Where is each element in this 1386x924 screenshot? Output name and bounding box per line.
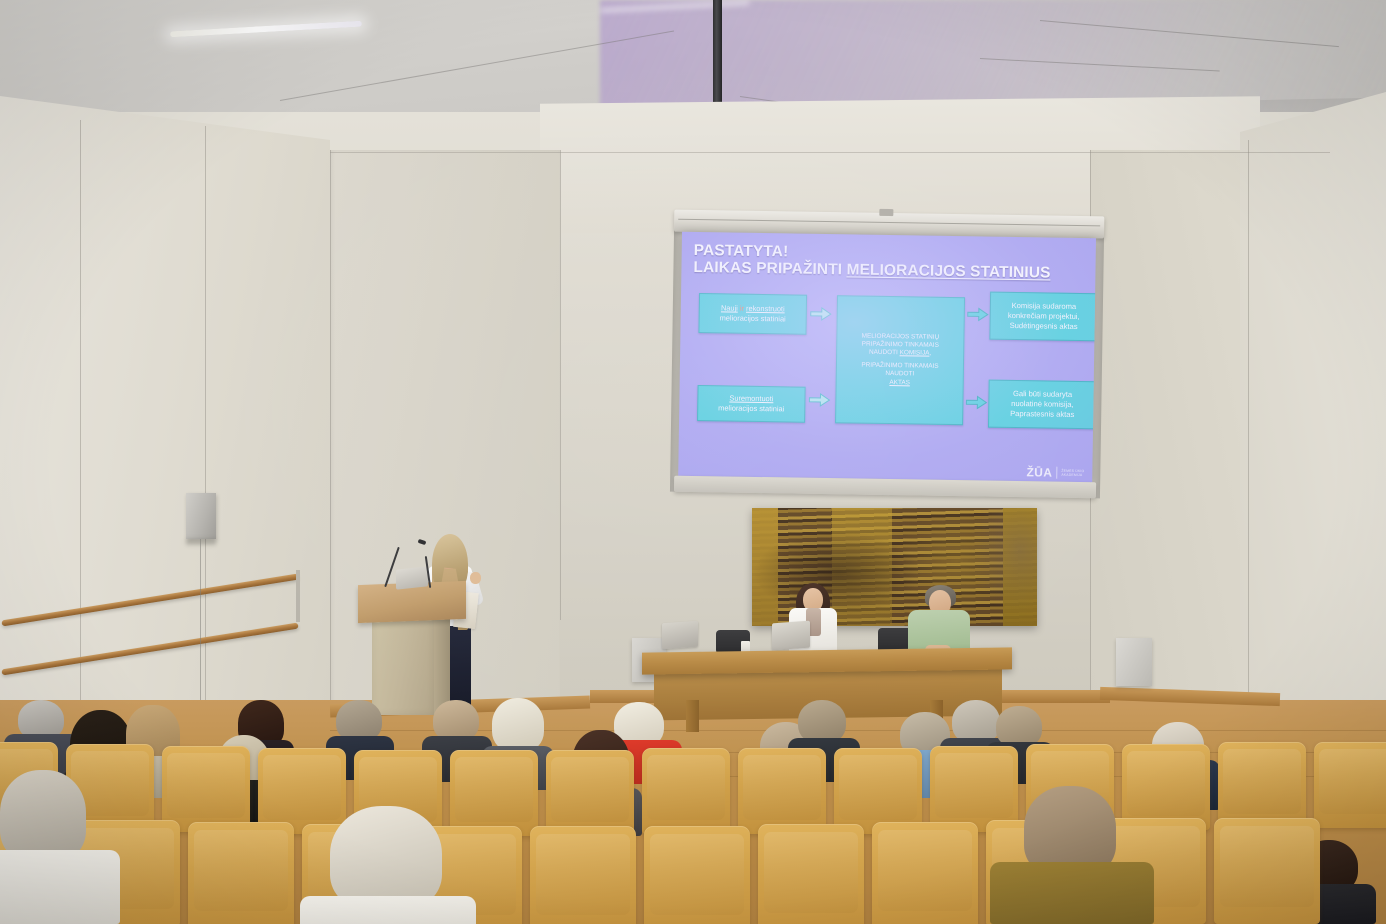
- slide-title-line-2-prefix: LAIKAS PRIPAŽINTI: [693, 259, 846, 278]
- auditorium-seat[interactable]: [758, 824, 864, 924]
- handrail-post: [296, 570, 300, 622]
- slide-diagram: Nauji ir rekonstruoti melioracijos stati…: [690, 287, 1083, 471]
- auditorium-seat[interactable]: [188, 822, 294, 924]
- presenter-hand: [470, 572, 481, 584]
- diagram-box-left-bottom: Suremontuoti melioracijos statiniai: [697, 385, 806, 423]
- wall-seam: [560, 150, 561, 620]
- audience-head: [0, 770, 86, 862]
- box-right-bottom-line-3: Paprastesnis aktas: [1010, 409, 1074, 420]
- auditorium-scene: PASTATYTA! LAIKAS PRIPAŽINTI MELIORACIJO…: [0, 0, 1386, 924]
- auditorium-seat[interactable]: [546, 750, 634, 836]
- wall-seam: [1248, 140, 1249, 700]
- slide-title-line-2-underlined: MELIORACIJOS STATINIUS: [846, 262, 1050, 282]
- wall-seam: [205, 126, 206, 706]
- slide-title: PASTATYTA! LAIKAS PRIPAŽINTI MELIORACIJO…: [693, 242, 1083, 283]
- left-side-wall: [0, 96, 330, 736]
- auditorium-seat[interactable]: [644, 826, 750, 924]
- box-center-line-6: AKTAS: [889, 379, 910, 388]
- wall-speaker-cable: [200, 539, 201, 719]
- diagram-box-left-top: Nauji ir rekonstruoti melioracijos stati…: [698, 293, 807, 335]
- auditorium-seat[interactable]: [1214, 818, 1320, 924]
- diagram-box-right-bottom: Gali būti sudaryta nuolatinė komisija, P…: [988, 379, 1096, 429]
- screen-housing-seam: [678, 219, 1100, 227]
- box-center-line-3: NAUDOTI KOMISIJA,: [869, 349, 931, 358]
- auditorium-seat[interactable]: [530, 826, 636, 924]
- auditorium-seat[interactable]: [450, 750, 538, 836]
- diagram-box-right-top: Komisija sudaroma konkrečiam projektui, …: [989, 291, 1096, 341]
- box-right-top-line-3: Sudėtingesnis aktas: [1010, 321, 1078, 332]
- auditorium-seat[interactable]: [872, 822, 978, 924]
- box-left-top-line-2: melioracijos statiniai: [720, 313, 786, 324]
- audience-head: [492, 698, 544, 752]
- arrow-right-icon: [810, 307, 832, 321]
- auditorium-seat[interactable]: [1218, 742, 1306, 828]
- logo-subtext: ŽEMĖS ŪKIO AKADEMIJA: [1061, 469, 1084, 478]
- box-left-top-word-nauji: Nauji: [721, 304, 738, 313]
- box-center-word-naudoti: NAUDOTI: [869, 349, 900, 356]
- wall-panel-right-niche: [1090, 150, 1250, 710]
- slide-canvas: PASTATYTA! LAIKAS PRIPAŽINTI MELIORACIJO…: [678, 232, 1096, 482]
- floor-speaker-right: [1116, 638, 1152, 686]
- box-center-comma: ,: [929, 350, 931, 357]
- diagram-box-center: MELIORACIJOS STATINIŲ PRIPAŽINIMO TINKAM…: [835, 295, 965, 425]
- audience-torso: [990, 862, 1154, 924]
- auditorium-seat[interactable]: [162, 746, 250, 832]
- podium-front-panel: [372, 610, 434, 715]
- auditorium-seat[interactable]: [738, 748, 826, 834]
- box-left-bottom-line-2: melioracijos statiniai: [718, 403, 784, 414]
- wall-speaker-shadow: [186, 539, 216, 545]
- projection-screen: PASTATYTA! LAIKAS PRIPAŽINTI MELIORACIJO…: [670, 210, 1105, 517]
- panel-table-leg-left: [686, 700, 699, 732]
- audience-torso: [300, 896, 476, 924]
- audience-torso: [0, 850, 120, 924]
- wall-seam: [330, 150, 331, 710]
- screen-housing-clip: [879, 209, 893, 216]
- box-center-word-komisija: KOMISIJA: [900, 349, 930, 356]
- logo-acronym: ŽŪA: [1026, 465, 1052, 479]
- podium-laptop: [396, 566, 428, 589]
- logo-divider: [1056, 467, 1057, 479]
- presentation-slide: PASTATYTA! LAIKAS PRIPAŽINTI MELIORACIJO…: [678, 232, 1096, 482]
- panel-laptop-center: [772, 621, 810, 651]
- wall-seam: [330, 152, 1330, 153]
- arrow-right-icon: [967, 307, 989, 321]
- audience-head: [330, 806, 442, 910]
- wall-mounted-speaker: [186, 493, 216, 539]
- auditorium-seat[interactable]: [642, 748, 730, 834]
- podium-side-panel: [434, 606, 450, 714]
- slide-logo: ŽŪA ŽEMĖS ŪKIO AKADEMIJA: [1026, 465, 1084, 480]
- floor-plank-line: [330, 730, 1386, 731]
- arrow-right-icon: [808, 392, 830, 406]
- panel-laptop-left: [662, 621, 698, 650]
- arrow-right-icon: [965, 395, 987, 409]
- logo-subtext-line-2: AKADEMIJA: [1061, 473, 1084, 478]
- auditorium-seat[interactable]: [1314, 742, 1386, 828]
- right-side-wall: [1240, 92, 1386, 742]
- box-left-top-word-rekonstruoti: rekonstruoti: [746, 304, 785, 314]
